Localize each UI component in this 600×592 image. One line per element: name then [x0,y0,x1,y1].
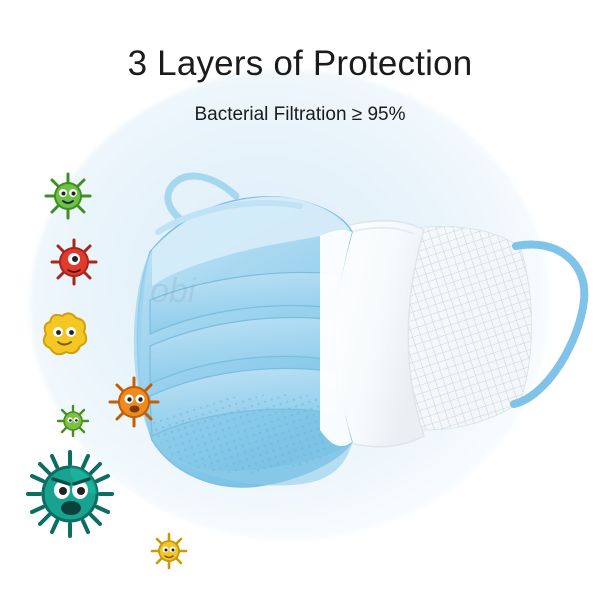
germ-green-spiky [40,168,96,224]
germ-yellow-small [150,532,188,570]
page-subtitle: Bacterial Filtration ≥ 95% [0,104,600,126]
germ-red-round [48,236,100,288]
germ-orange-spiky [106,374,162,430]
poster-image: obi 3 Layers of Protection Bacterial Fil… [0,0,600,592]
germ-yellow-blob [36,308,92,360]
germ-teal-large [24,448,116,540]
germ-green-small [56,404,90,438]
page-title: 3 Layers of Protection [0,44,600,84]
